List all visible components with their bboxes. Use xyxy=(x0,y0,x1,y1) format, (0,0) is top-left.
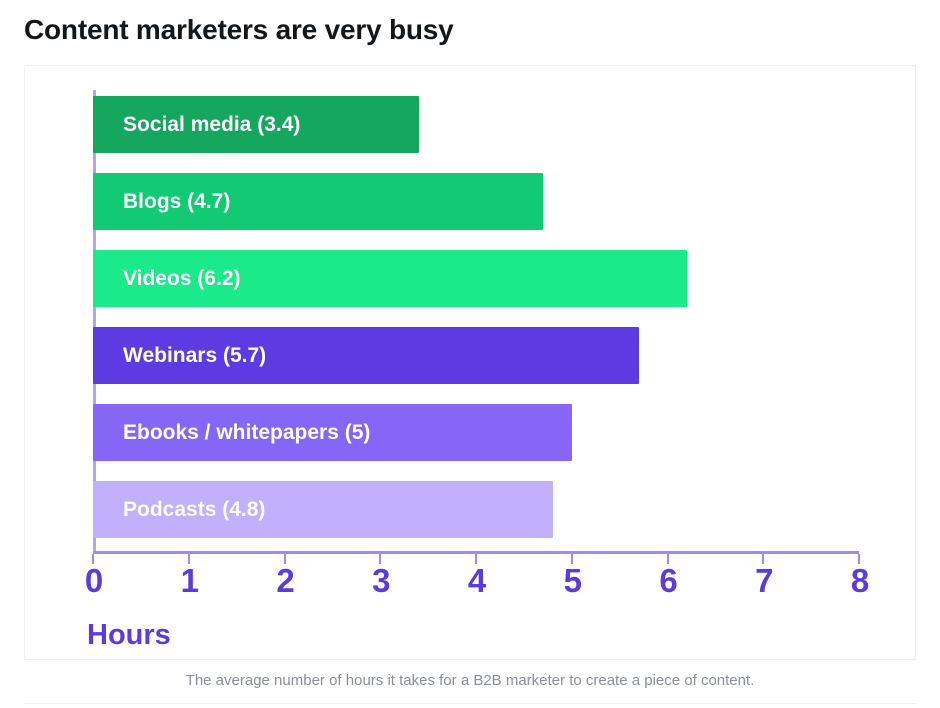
bar-label: Ebooks / whitepapers (5) xyxy=(123,404,370,461)
bar-row: Podcasts (4.8) xyxy=(93,481,553,538)
caption-divider xyxy=(24,703,916,704)
x-axis-tick-label: 7 xyxy=(744,564,784,597)
x-axis-tick-label: 4 xyxy=(457,564,497,597)
x-axis-tick-label: 5 xyxy=(553,564,593,597)
bar-row: Blogs (4.7) xyxy=(93,173,543,230)
page-title: Content marketers are very busy xyxy=(24,14,454,46)
x-axis-title: Hours xyxy=(87,619,171,652)
bar-row: Ebooks / whitepapers (5) xyxy=(93,404,572,461)
chart-card: Hours 012345678Social media (3.4)Blogs (… xyxy=(24,65,916,660)
bar-label: Blogs (4.7) xyxy=(123,173,230,230)
bar-row: Webinars (5.7) xyxy=(93,327,639,384)
bar-label: Podcasts (4.8) xyxy=(123,481,265,538)
chart-page: Content marketers are very busy Hours 01… xyxy=(0,0,940,708)
bar-row: Social media (3.4) xyxy=(93,96,419,153)
bar-chart-plot: Hours 012345678Social media (3.4)Blogs (… xyxy=(25,66,917,661)
chart-caption: The average number of hours it takes for… xyxy=(0,672,940,689)
bar-label: Videos (6.2) xyxy=(123,250,241,307)
bar-label: Social media (3.4) xyxy=(123,96,300,153)
x-axis-tick-label: 1 xyxy=(170,564,210,597)
bar-row: Videos (6.2) xyxy=(93,250,687,307)
x-axis-tick-label: 3 xyxy=(361,564,401,597)
x-axis-tick-label: 0 xyxy=(74,564,114,597)
x-axis-tick-label: 2 xyxy=(266,564,306,597)
x-axis-tick-label: 6 xyxy=(649,564,689,597)
bar-label: Webinars (5.7) xyxy=(123,327,266,384)
x-axis-tick-label: 8 xyxy=(840,564,880,597)
